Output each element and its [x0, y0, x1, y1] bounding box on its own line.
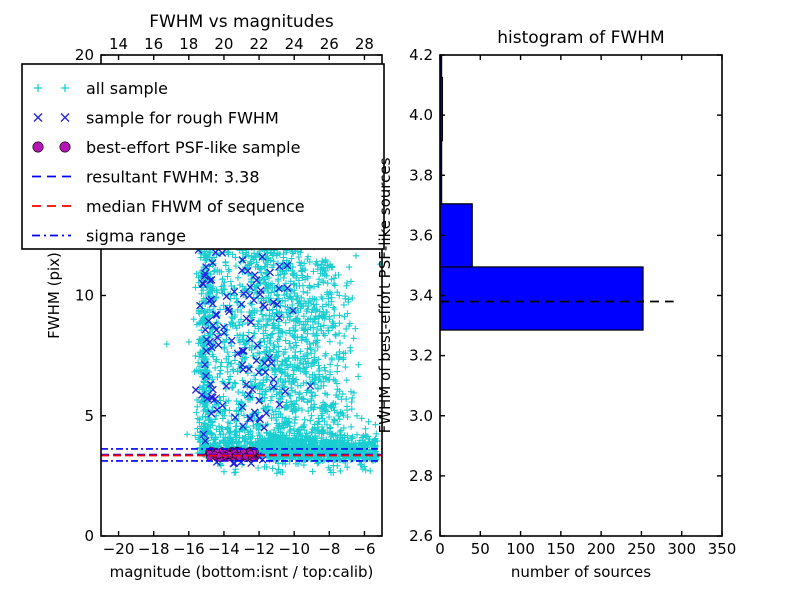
top-x-tick-label: 22 [250, 35, 269, 53]
y-tick-label: 3.0 [409, 407, 433, 425]
top-x-tick-label: 28 [355, 35, 374, 53]
x-tick-label: 200 [587, 540, 616, 558]
x-tick-label: 150 [547, 540, 576, 558]
y-tick-label: 3.6 [409, 226, 433, 244]
x-tick-label: −18 [138, 540, 170, 558]
y-tick-label: 0 [84, 527, 94, 545]
legend-item-label: best-effort PSF-like sample [86, 138, 300, 157]
left-x-axis-label: magnitude (bottom:isnt / top:calib) [110, 563, 374, 581]
legend-item-label: all sample [86, 79, 168, 98]
right-y-axis-label: FWHM of best-effort PSF-like sources [376, 157, 394, 433]
x-tick-label: −8 [318, 540, 340, 558]
x-tick-label: 300 [667, 540, 696, 558]
x-tick-label: 0 [435, 540, 445, 558]
y-tick-label: 10 [75, 287, 94, 305]
top-x-tick-label: 20 [214, 35, 233, 53]
top-x-tick-label: 26 [320, 35, 339, 53]
y-tick-label: 4.0 [409, 106, 433, 124]
top-x-tick-label: 16 [144, 35, 163, 53]
y-tick-label: 2.6 [409, 527, 433, 545]
matplotlib-figure: −20−18−16−14−12−10−8−6magnitude (bottom:… [0, 0, 800, 600]
y-tick-label: 20 [75, 46, 94, 64]
x-tick-label: 50 [471, 540, 490, 558]
histogram-bars [440, 55, 643, 330]
x-tick-label: 100 [506, 540, 535, 558]
legend-item-label: sigma range [86, 227, 186, 246]
legend-item-label: resultant FWHM: 3.38 [86, 168, 260, 187]
right-panel-title: histogram of FWHM [497, 28, 664, 48]
x-tick-label: 250 [627, 540, 656, 558]
top-x-tick-label: 24 [285, 35, 304, 53]
y-tick-label: 3.2 [409, 347, 433, 365]
figure-canvas: −20−18−16−14−12−10−8−6magnitude (bottom:… [0, 0, 800, 600]
x-tick-label: −6 [353, 540, 375, 558]
top-x-tick-label: 14 [109, 35, 128, 53]
left-panel-title: FWHM vs magnitudes [149, 12, 334, 32]
left-x-axis: −20−18−16−14−12−10−8−6magnitude (bottom:… [103, 531, 376, 581]
x-tick-label: −10 [278, 540, 310, 558]
y-tick-label: 4.2 [409, 46, 433, 64]
left-y-axis-label: FWHM (pix) [45, 252, 63, 339]
left-top-x-axis: 1416182022242628FWHM vs magnitudes [109, 12, 374, 60]
legend-item-label: sample for rough FWHM [86, 109, 279, 128]
x-tick-label: 350 [708, 540, 737, 558]
x-tick-label: −16 [173, 540, 205, 558]
legend-circle-icon [33, 142, 43, 152]
x-tick-label: −20 [103, 540, 135, 558]
y-tick-label: 3.4 [409, 287, 433, 305]
legend-circle-icon [60, 142, 70, 152]
legend: all samplesample for rough FWHMbest-effo… [22, 64, 384, 249]
top-x-tick-label: 18 [179, 35, 198, 53]
legend-item-label: median FHWM of sequence [86, 197, 305, 216]
x-tick-label: −14 [208, 540, 240, 558]
right-histogram-panel: 050100150200250300350number of sources2.… [376, 28, 736, 581]
x-tick-label: −12 [243, 540, 275, 558]
histogram-bar [440, 267, 643, 330]
y-tick-label: 3.8 [409, 166, 433, 184]
y-tick-label: 2.8 [409, 467, 433, 485]
y-tick-label: 5 [84, 407, 94, 425]
right-x-axis-label: number of sources [511, 563, 651, 581]
